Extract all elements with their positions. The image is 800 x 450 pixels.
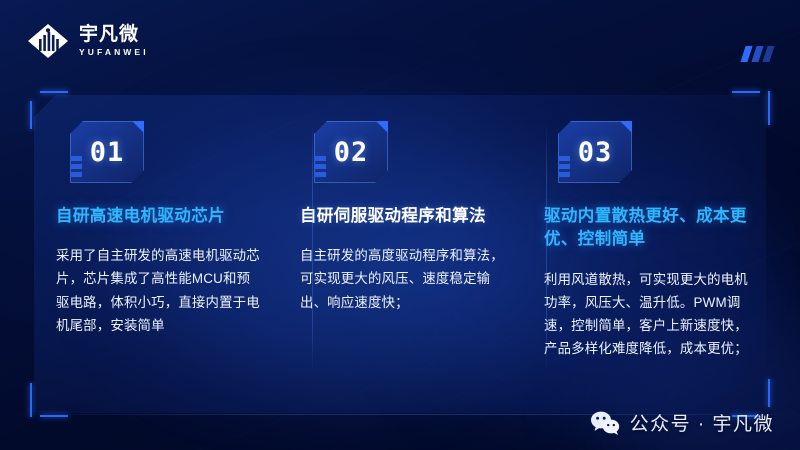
feature-title-01: 自研高速电机驱动芯片 — [56, 205, 262, 228]
feature-number-01: 01 — [90, 137, 125, 168]
feature-number-03: 03 — [578, 137, 613, 168]
badge-bar — [558, 156, 570, 161]
yufanwei-diamond-logo-icon — [26, 22, 70, 60]
badge-bar — [314, 156, 326, 161]
badge-corner-accent-icon — [132, 121, 144, 133]
feature-body-01: 采用了自主研发的高速电机驱动芯片，芯片集成了高性能MCU和预驱电路，体积小巧，直… — [56, 244, 262, 336]
decoration-bar — [762, 46, 774, 62]
feature-column-01: 01 自研高速电机驱动芯片 采用了自主研发的高速电机驱动芯片，芯片集成了高性能M… — [34, 95, 278, 413]
badge-corner-accent-icon — [620, 121, 632, 133]
feature-number-02: 02 — [334, 137, 369, 168]
badge-bar — [558, 172, 570, 177]
feature-title-02: 自研伺服驱动程序和算法 — [300, 205, 506, 228]
slide-canvas: 宇凡微 YUFANWEI 01 — [0, 0, 800, 450]
feature-number-badge-03: 03 — [558, 121, 632, 183]
badge-row: 03 — [544, 121, 750, 183]
badge-bar — [70, 156, 82, 161]
header-decoration-bars — [743, 46, 772, 62]
badge-bar — [70, 164, 82, 169]
badge-side-bars — [314, 156, 326, 177]
brand-name-cn: 宇凡微 — [79, 25, 149, 45]
feature-number-badge-01: 01 — [70, 121, 144, 183]
badge-bar — [314, 164, 326, 169]
badge-bar — [314, 172, 326, 177]
decoration-bar — [751, 46, 763, 62]
badge-row: 02 — [300, 121, 506, 183]
badge-side-bars — [558, 156, 570, 177]
feature-title-03: 驱动内置散热更好、成本更优、控制简单 — [544, 205, 750, 252]
feature-column-02: 02 自研伺服驱动程序和算法 自主研发的高度驱动程序和算法，可实现更大的风压、速… — [278, 95, 522, 413]
badge-bar — [70, 172, 82, 177]
feature-columns: 01 自研高速电机驱动芯片 采用了自主研发的高速电机驱动芯片，芯片集成了高性能M… — [34, 95, 766, 413]
watermark-text: 公众号 · 宇凡微 — [630, 409, 774, 436]
brand-name-en: YUFANWEI — [79, 47, 149, 58]
feature-body-02: 自主研发的高度驱动程序和算法，可实现更大的风压、速度稳定输出、响应速度快； — [300, 244, 506, 313]
feature-number-badge-02: 02 — [314, 121, 388, 183]
brand-logo: 宇凡微 YUFANWEI — [26, 22, 149, 60]
badge-bar — [558, 164, 570, 169]
badge-corner-accent-icon — [376, 121, 388, 133]
wechat-icon — [590, 410, 620, 436]
badge-side-bars — [70, 156, 82, 177]
decoration-bar — [740, 46, 752, 62]
column-divider — [546, 123, 547, 373]
feature-body-03: 利用风道散热，可实现更大的电机功率，风压大、温升低。PWM调速，控制简单，客户上… — [544, 268, 750, 360]
column-divider — [312, 123, 313, 373]
badge-row: 01 — [56, 121, 262, 183]
wechat-watermark: 公众号 · 宇凡微 — [590, 409, 774, 436]
feature-column-03: 03 驱动内置散热更好、成本更优、控制简单 利用风道散热，可实现更大的电机功率，… — [522, 95, 766, 413]
